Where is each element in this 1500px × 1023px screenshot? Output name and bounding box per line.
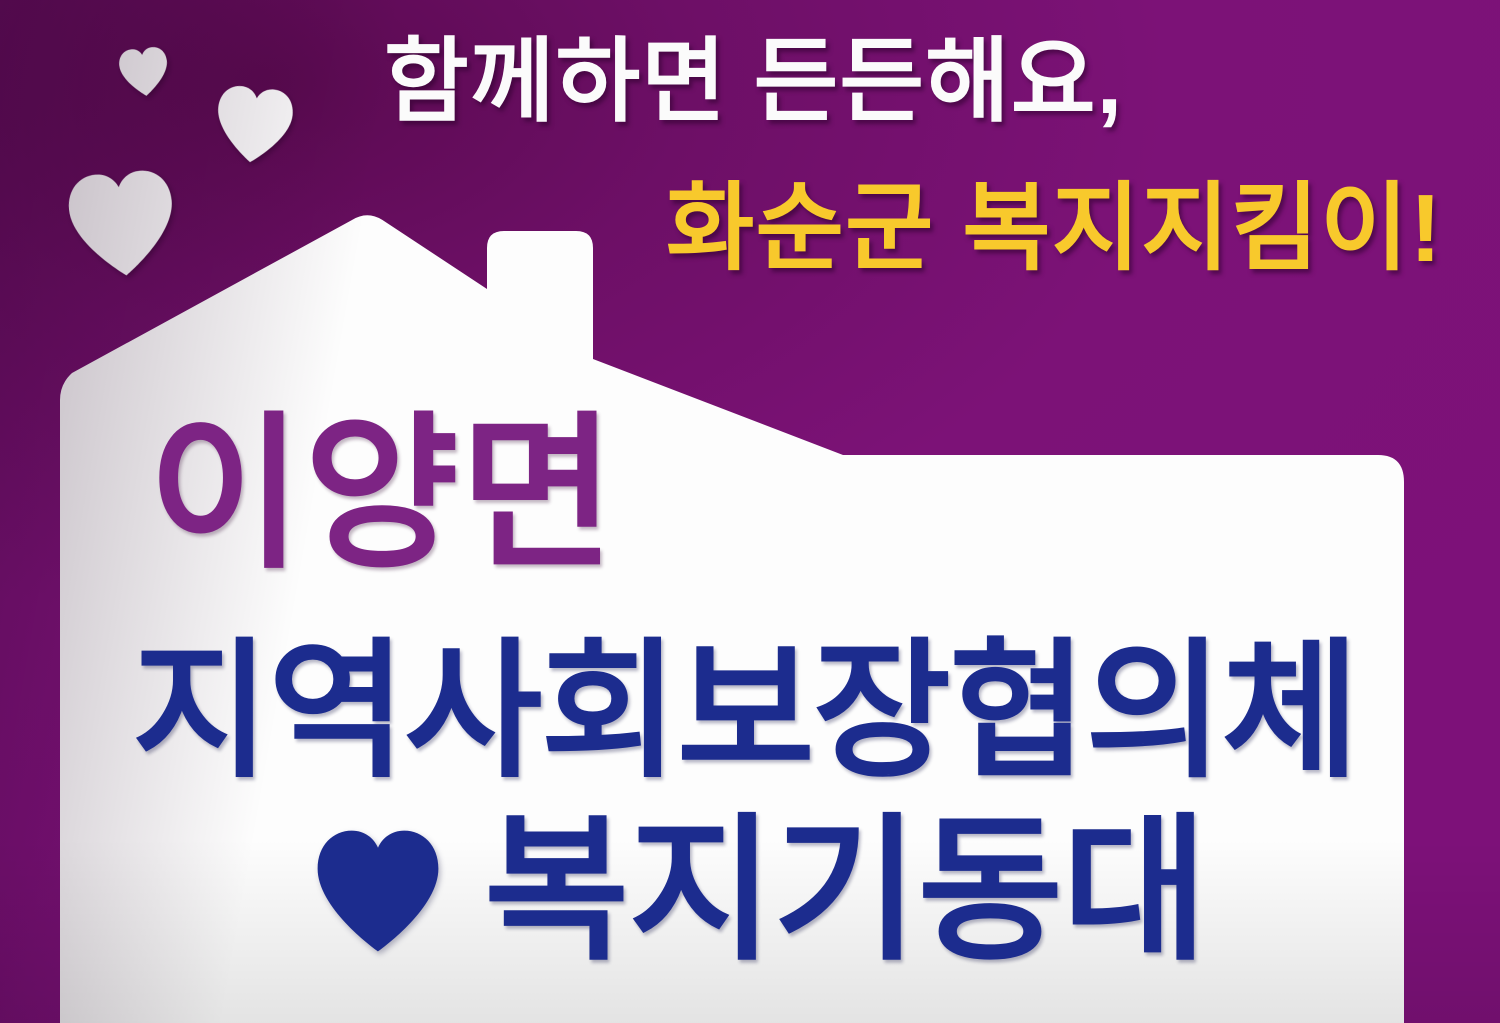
poster-banner: 함께하면 든든해요, 화순군 복지지킴이! 이양면 지역사회보장협의체 복지기동… [0,0,1500,1023]
heart-icon-team [312,828,444,954]
team-row: 복지기동대 [312,812,1207,970]
district-name: 이양면 [148,410,617,578]
team-name: 복지기동대 [484,812,1207,970]
council-name: 지역사회보장협의체 [132,636,1358,786]
tagline-line-2: 화순군 복지지킴이! [666,181,1443,277]
tagline-line-1: 함께하면 든든해요, [384,36,1123,128]
